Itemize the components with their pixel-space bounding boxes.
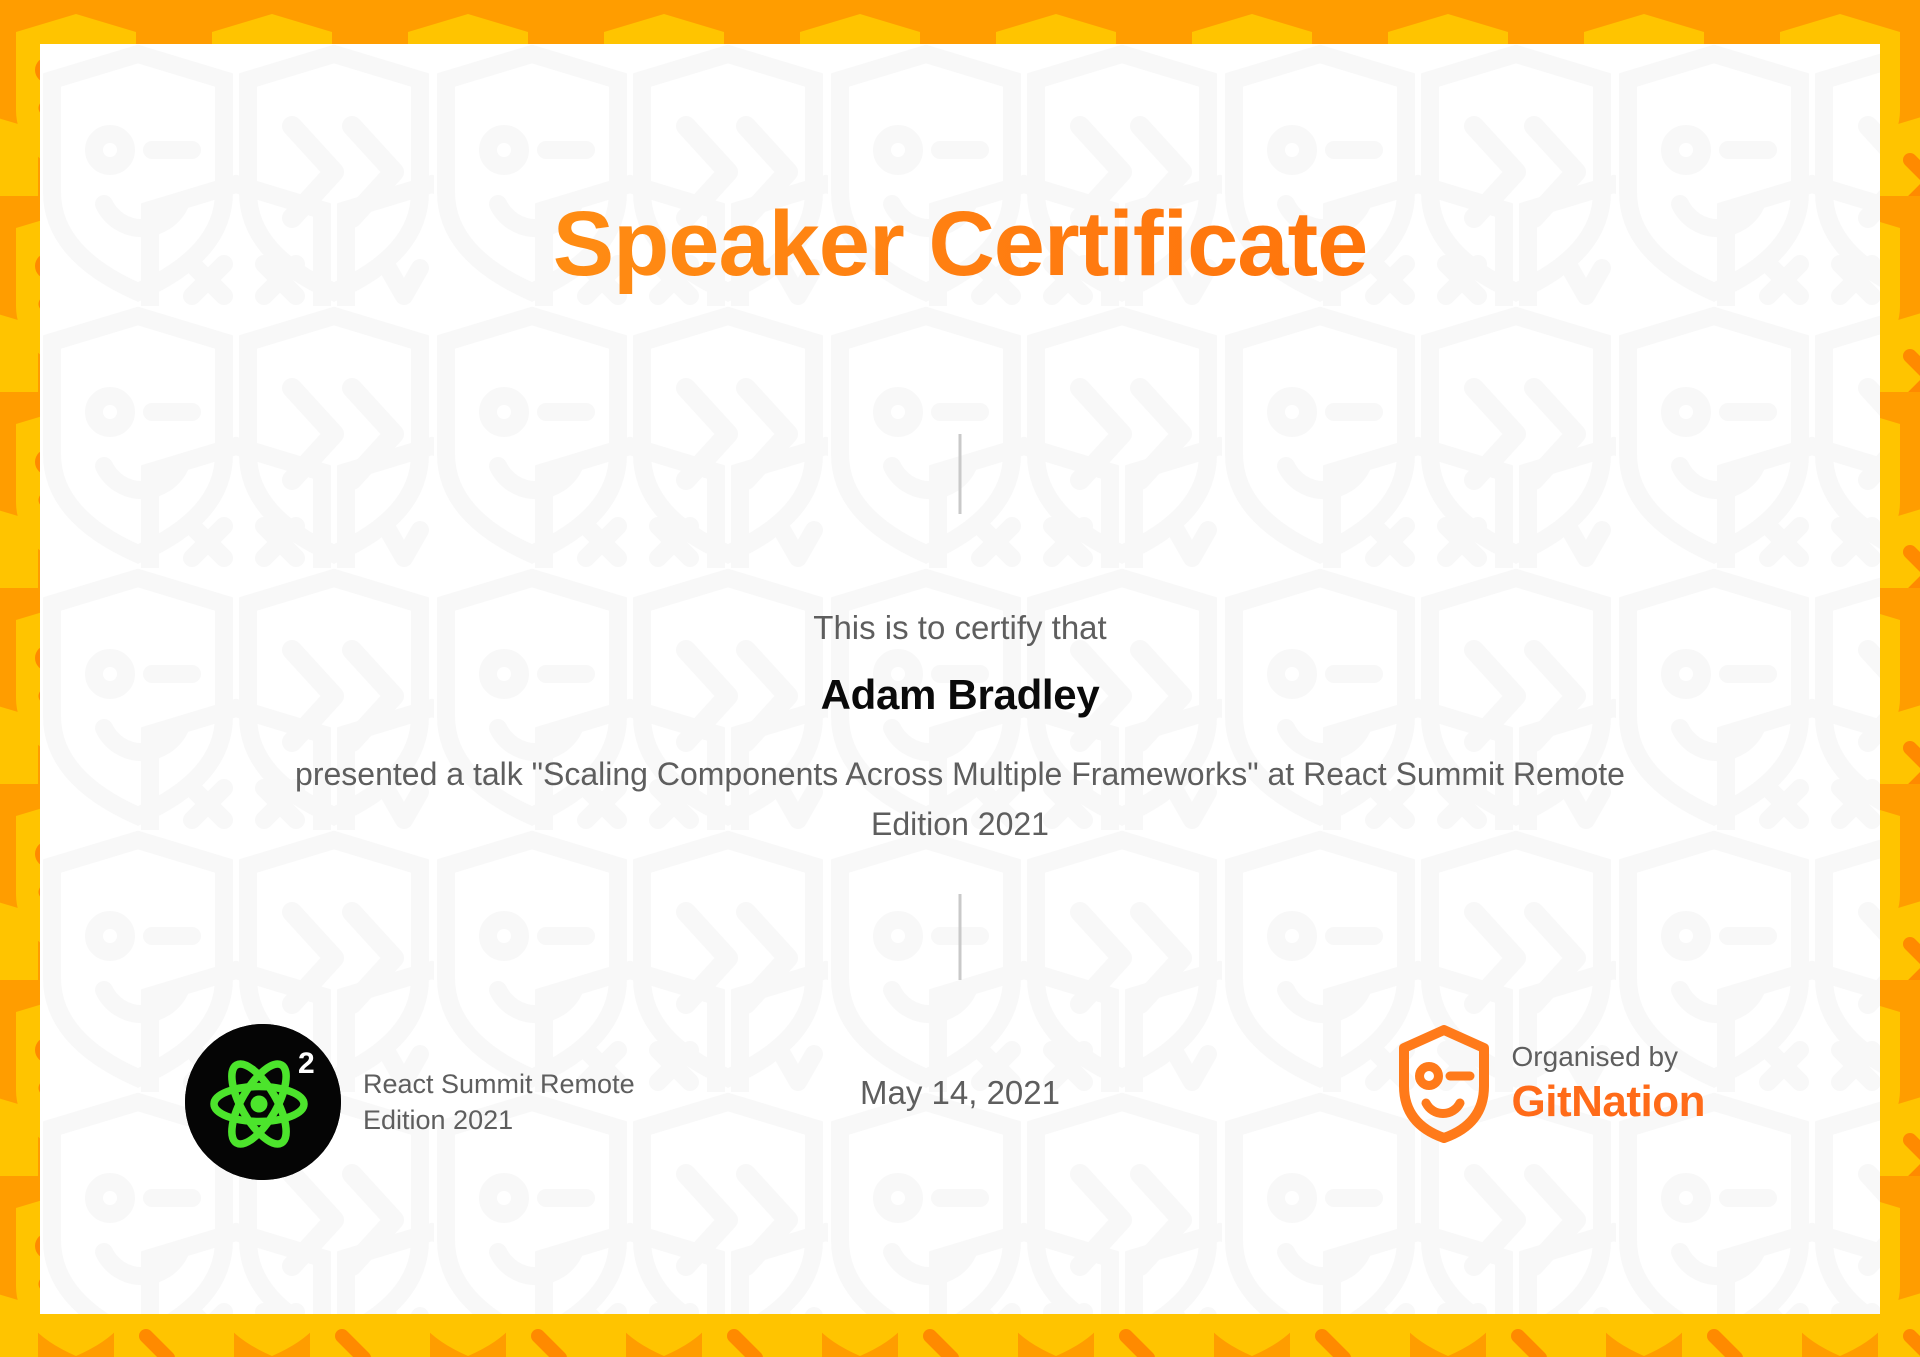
gitnation-shield-face-icon (1396, 1024, 1492, 1144)
divider-bottom (959, 894, 962, 980)
organiser-text: Organised by GitNation (1512, 1041, 1705, 1128)
certify-line: This is to certify that (40, 609, 1880, 647)
organiser-name: GitNation (1512, 1077, 1705, 1128)
divider-top (959, 434, 962, 514)
organiser-prefix: Organised by (1512, 1041, 1705, 1073)
certificate: Speaker Certificate This is to certify t… (0, 0, 1920, 1357)
react-atom-icon: 2 (185, 1024, 341, 1180)
certificate-card: Speaker Certificate This is to certify t… (40, 44, 1880, 1314)
recipient-name: Adam Bradley (40, 671, 1880, 719)
badge-superscript: 2 (298, 1047, 315, 1080)
event-label: React Summit Remote Edition 2021 (363, 1066, 635, 1138)
talk-description: presented a talk "Scaling Components Acr… (250, 749, 1670, 849)
react-summit-badge: 2 (185, 1024, 341, 1180)
organiser-block: Organised by GitNation (1396, 1024, 1705, 1144)
event-block: 2 React Summit Remote Edition 2021 (185, 1024, 635, 1180)
certificate-footer: 2 React Summit Remote Edition 2021 May 1… (40, 1014, 1880, 1314)
certificate-date: May 14, 2021 (860, 1074, 1060, 1112)
page-title: Speaker Certificate (40, 192, 1880, 297)
